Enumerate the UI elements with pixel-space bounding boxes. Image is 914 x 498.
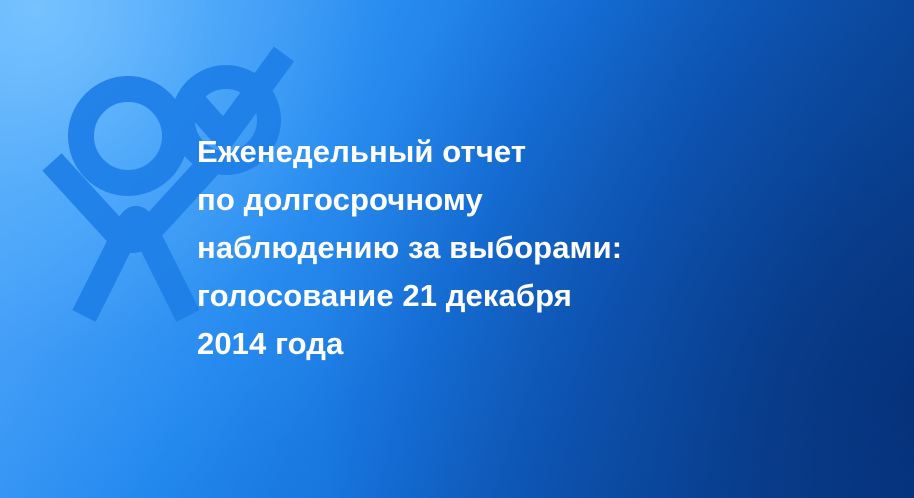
title-line-1: Еженедельный отчет (197, 128, 757, 176)
title-line-3: наблюдению за выборами: (197, 224, 757, 272)
report-cover: Еженедельный отчет по долгосрочному набл… (0, 0, 914, 498)
logo-legs-lambda (84, 219, 188, 316)
title-line-2: по долгосрочному (197, 176, 757, 224)
logo-open-ring-head (81, 89, 175, 183)
title-line-5: 2014 года (197, 320, 757, 368)
title-line-4: голосование 21 декабря (197, 272, 757, 320)
page-title: Еженедельный отчет по долгосрочному набл… (197, 128, 757, 368)
